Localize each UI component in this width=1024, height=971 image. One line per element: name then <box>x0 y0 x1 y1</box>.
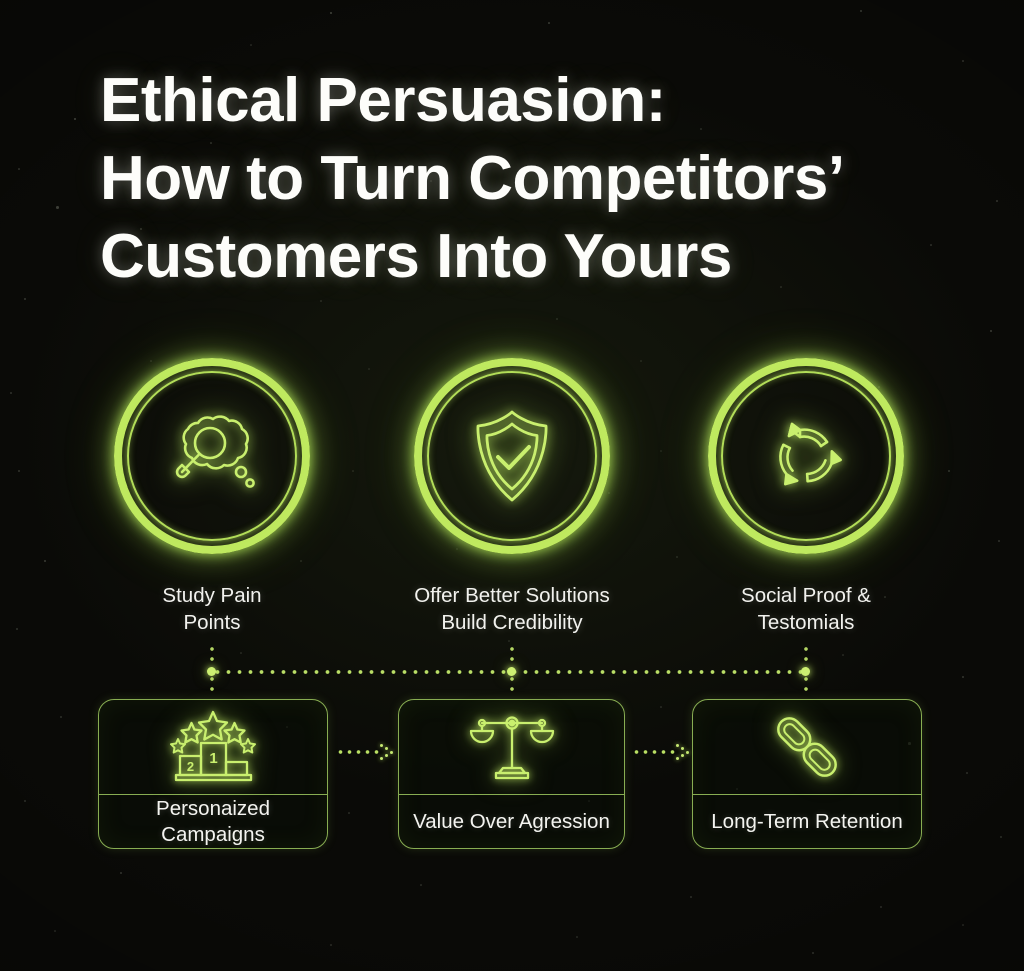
magnifier-thought-bubble-icon <box>114 358 310 554</box>
outcome-card-value-over-aggression[interactable]: Value Over Agression <box>398 699 625 849</box>
label-line-1: Value Over Agression <box>413 809 610 835</box>
arrow-shaft <box>632 749 676 755</box>
title-line-1: Ethical Persuasion: <box>100 62 980 140</box>
card-label-area: Value Over Agression <box>399 795 624 848</box>
caption-line-2: Points <box>62 609 362 636</box>
chain-link-icon <box>693 700 921 795</box>
card-label-area: Personaized Campaigns <box>99 795 327 848</box>
recycle-cycle-arrows-icon <box>708 358 904 554</box>
outcome-card-label: Value Over Agression <box>413 809 610 835</box>
connector-junction-1 <box>207 667 216 676</box>
caption-line-1: Social Proof & <box>656 582 956 609</box>
outcome-card-label: Long-Term Retention <box>711 809 902 835</box>
podium-rank-2-label: 2 <box>187 759 194 774</box>
balance-scales-icon <box>399 700 624 795</box>
label-line-2: Campaigns <box>156 822 270 848</box>
page-title: Ethical Persuasion: How to Turn Competit… <box>100 62 980 296</box>
step-caption-social-proof: Social Proof & Testomials <box>656 582 956 636</box>
label-line-1: Personaized <box>156 796 270 822</box>
title-line-3: Customers Into Yours <box>100 218 980 296</box>
connector-junction-3 <box>801 667 810 676</box>
card-connector-arrow-2 <box>632 741 694 763</box>
caption-line-2: Build Credibility <box>362 609 662 636</box>
label-line-1: Long-Term Retention <box>711 809 902 835</box>
podium-rank-1-label: 1 <box>209 750 217 767</box>
step-circle-social-proof[interactable] <box>708 358 904 554</box>
caption-line-2: Testomials <box>656 609 956 636</box>
outcome-card-long-term-retention[interactable]: Long-Term Retention <box>692 699 922 849</box>
connector-junction-2 <box>507 667 516 676</box>
caption-line-1: Study Pain <box>62 582 362 609</box>
card-label-area: Long-Term Retention <box>693 795 921 848</box>
step-circle-study-pain-points[interactable] <box>114 358 310 554</box>
caption-line-1: Offer Better Solutions <box>362 582 662 609</box>
outcome-card-personalized-campaigns[interactable]: 1 2 Personaized Campaigns <box>98 699 328 849</box>
card-connector-arrow-1 <box>336 741 398 763</box>
title-line-2: How to Turn Competitors’ <box>100 140 980 218</box>
shield-check-icon <box>414 358 610 554</box>
step-caption-study-pain-points: Study Pain Points <box>62 582 362 636</box>
step-circle-offer-better-solutions[interactable] <box>414 358 610 554</box>
step-caption-offer-better-solutions: Offer Better Solutions Build Credibility <box>362 582 662 636</box>
outcome-card-label: Personaized Campaigns <box>156 796 270 848</box>
arrow-shaft <box>336 749 380 755</box>
infographic-canvas: Ethical Persuasion: How to Turn Competit… <box>0 0 1024 971</box>
podium-stars-icon: 1 2 <box>99 700 327 795</box>
